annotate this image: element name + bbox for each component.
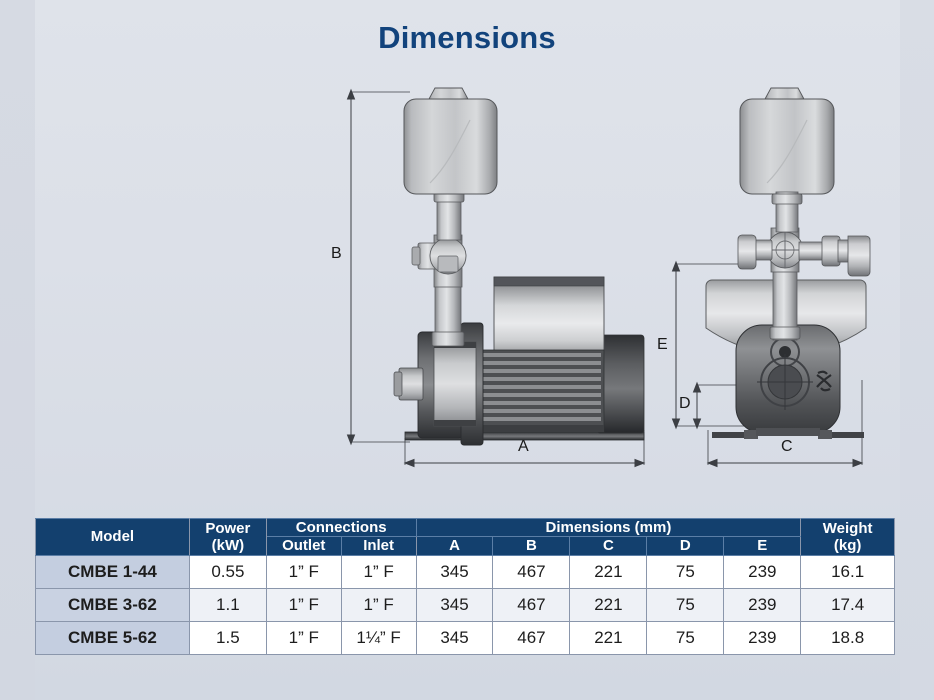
cell-model: CMBE 3-62 xyxy=(36,588,190,621)
cell-dim-b: 467 xyxy=(493,588,570,621)
header-power: Power (kW) xyxy=(189,519,266,556)
cell-dim-d: 75 xyxy=(647,555,724,588)
header-weight-line1: Weight xyxy=(801,520,894,537)
cell-model: CMBE 5-62 xyxy=(36,621,190,654)
header-dim-e: E xyxy=(724,537,801,555)
technical-drawing: B A E D C xyxy=(0,80,934,500)
cell-power: 1.1 xyxy=(189,588,266,621)
dimension-label-e: E xyxy=(657,336,668,354)
dimension-label-b: B xyxy=(331,245,342,263)
side-view-group xyxy=(348,88,645,467)
front-view-group xyxy=(673,88,871,467)
cell-dim-a: 345 xyxy=(416,555,493,588)
dimension-label-c: C xyxy=(781,438,793,456)
dimension-label-d: D xyxy=(679,395,691,413)
cell-outlet: 1” F xyxy=(266,555,341,588)
cell-weight: 16.1 xyxy=(801,555,895,588)
table-body: CMBE 1-44 0.55 1” F 1” F 345 467 221 75 … xyxy=(36,555,895,654)
cell-dim-e: 239 xyxy=(724,588,801,621)
dimension-label-a: A xyxy=(518,438,529,456)
cell-power: 1.5 xyxy=(189,621,266,654)
motor-cooling-fins xyxy=(481,353,601,421)
header-dim-b: B xyxy=(493,537,570,555)
header-model: Model xyxy=(36,519,190,556)
header-dim-d: D xyxy=(647,537,724,555)
table-row: CMBE 5-62 1.5 1” F 1¼” F 345 467 221 75 … xyxy=(36,621,895,654)
cell-dim-c: 221 xyxy=(570,588,647,621)
cell-inlet: 1” F xyxy=(341,555,416,588)
header-dim-a: A xyxy=(416,537,493,555)
pump-drawings-svg xyxy=(0,80,934,500)
header-dimensions: Dimensions (mm) xyxy=(416,519,801,537)
cell-dim-a: 345 xyxy=(416,588,493,621)
header-outlet: Outlet xyxy=(266,537,341,555)
header-weight-line2: (kg) xyxy=(801,537,894,554)
cell-dim-b: 467 xyxy=(493,555,570,588)
cell-weight: 17.4 xyxy=(801,588,895,621)
cell-dim-d: 75 xyxy=(647,621,724,654)
table-row: CMBE 3-62 1.1 1” F 1” F 345 467 221 75 2… xyxy=(36,588,895,621)
table-header-row-1: Model Power (kW) Connections Dimensions … xyxy=(36,519,895,537)
table-row: CMBE 1-44 0.55 1” F 1” F 345 467 221 75 … xyxy=(36,555,895,588)
page-title: Dimensions xyxy=(0,20,934,56)
page-root: Dimensions xyxy=(0,0,934,700)
cell-dim-e: 239 xyxy=(724,621,801,654)
cell-dim-c: 221 xyxy=(570,621,647,654)
cell-dim-d: 75 xyxy=(647,588,724,621)
cell-outlet: 1” F xyxy=(266,588,341,621)
cell-dim-c: 221 xyxy=(570,555,647,588)
table-header: Model Power (kW) Connections Dimensions … xyxy=(36,519,895,556)
cell-inlet: 1” F xyxy=(341,588,416,621)
cell-model: CMBE 1-44 xyxy=(36,555,190,588)
header-weight: Weight (kg) xyxy=(801,519,895,556)
header-inlet: Inlet xyxy=(341,537,416,555)
header-power-line1: Power xyxy=(190,520,266,537)
cell-dim-e: 239 xyxy=(724,555,801,588)
cell-outlet: 1” F xyxy=(266,621,341,654)
header-dim-c: C xyxy=(570,537,647,555)
specifications-table: Model Power (kW) Connections Dimensions … xyxy=(35,518,895,655)
cell-dim-b: 467 xyxy=(493,621,570,654)
cell-inlet: 1¼” F xyxy=(341,621,416,654)
header-power-line2: (kW) xyxy=(190,537,266,554)
header-connections: Connections xyxy=(266,519,416,537)
cell-power: 0.55 xyxy=(189,555,266,588)
cell-dim-a: 345 xyxy=(416,621,493,654)
cell-weight: 18.8 xyxy=(801,621,895,654)
